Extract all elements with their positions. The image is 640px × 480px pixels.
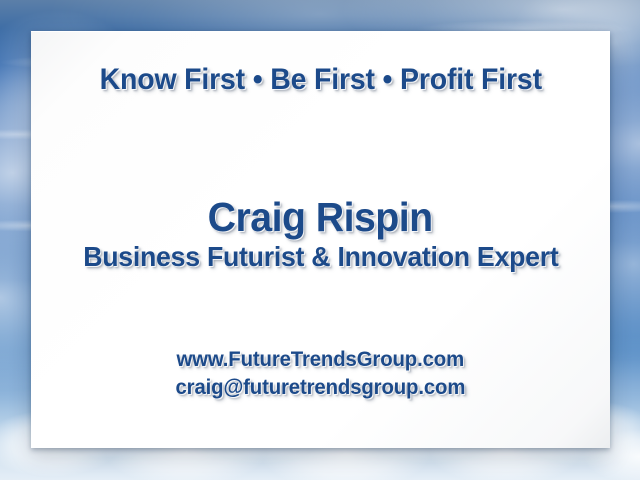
slide-tagline: Know First • Be First • Profit First xyxy=(99,64,541,96)
content-panel-inner: Know First • Be First • Profit First Cra… xyxy=(31,31,610,448)
contact-email[interactable]: craig@futuretrendsgroup.com xyxy=(176,376,466,401)
content-panel: Know First • Be First • Profit First Cra… xyxy=(31,31,610,448)
presenter-name: Craig Rispin xyxy=(208,196,433,239)
contact-website[interactable]: www.FutureTrendsGroup.com xyxy=(177,348,465,373)
presentation-slide: Know First • Be First • Profit First Cra… xyxy=(0,0,640,480)
presenter-role: Business Futurist & Innovation Expert xyxy=(83,242,558,272)
contact-block: www.FutureTrendsGroup.com craig@futuretr… xyxy=(171,348,470,401)
